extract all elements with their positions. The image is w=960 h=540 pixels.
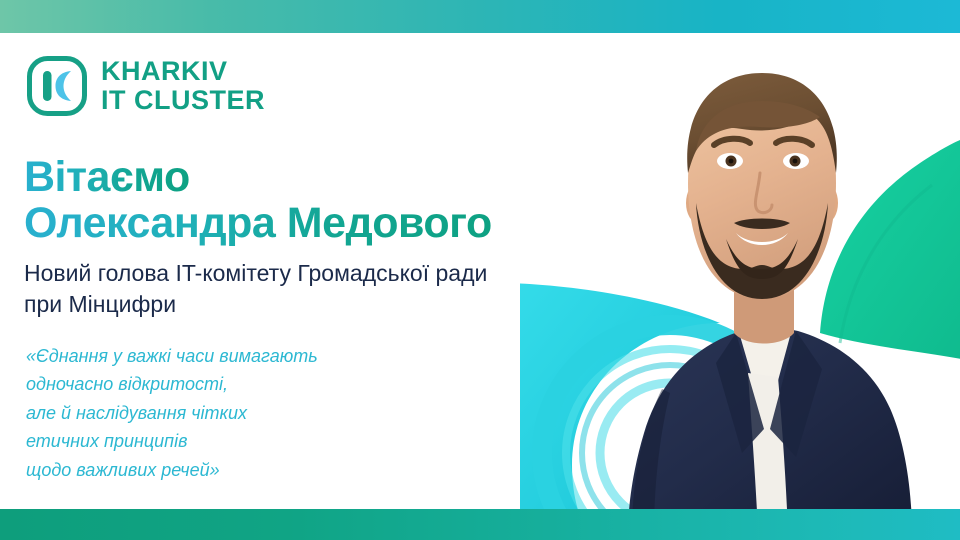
portrait-head xyxy=(686,73,838,299)
logo-wordmark: KHARKIV IT CLUSTER xyxy=(101,58,265,114)
headline-line-2: Олександра Медового xyxy=(24,200,492,246)
portrait-composition xyxy=(520,33,960,509)
quote-block: «Єднання у важкі часи вимагають одночасн… xyxy=(26,342,496,484)
kharkiv-it-cluster-logo: KHARKIV IT CLUSTER xyxy=(26,55,265,117)
logo-line-kharkiv: KHARKIV xyxy=(101,58,265,85)
quote-line: «Єднання у важкі часи вимагають xyxy=(26,342,496,370)
banner-canvas: KHARKIV IT CLUSTER Вітаємо Олександра Ме… xyxy=(0,0,960,540)
portrait-illustration xyxy=(520,33,960,509)
logo-mark-icon xyxy=(26,55,88,117)
quote-line: щодо важливих речей» xyxy=(26,456,496,484)
quote-line: етичних принципів xyxy=(26,427,496,455)
bottom-gradient-bar xyxy=(0,509,960,540)
quote-line: але й наслідування чітких xyxy=(26,399,496,427)
decorative-green-arc xyxy=(820,133,960,363)
headline-line-1: Вітаємо xyxy=(24,154,190,200)
quote-line: одночасно відкритості, xyxy=(26,370,496,398)
logo-line-it-cluster: IT CLUSTER xyxy=(101,87,265,114)
top-gradient-bar xyxy=(0,0,960,33)
